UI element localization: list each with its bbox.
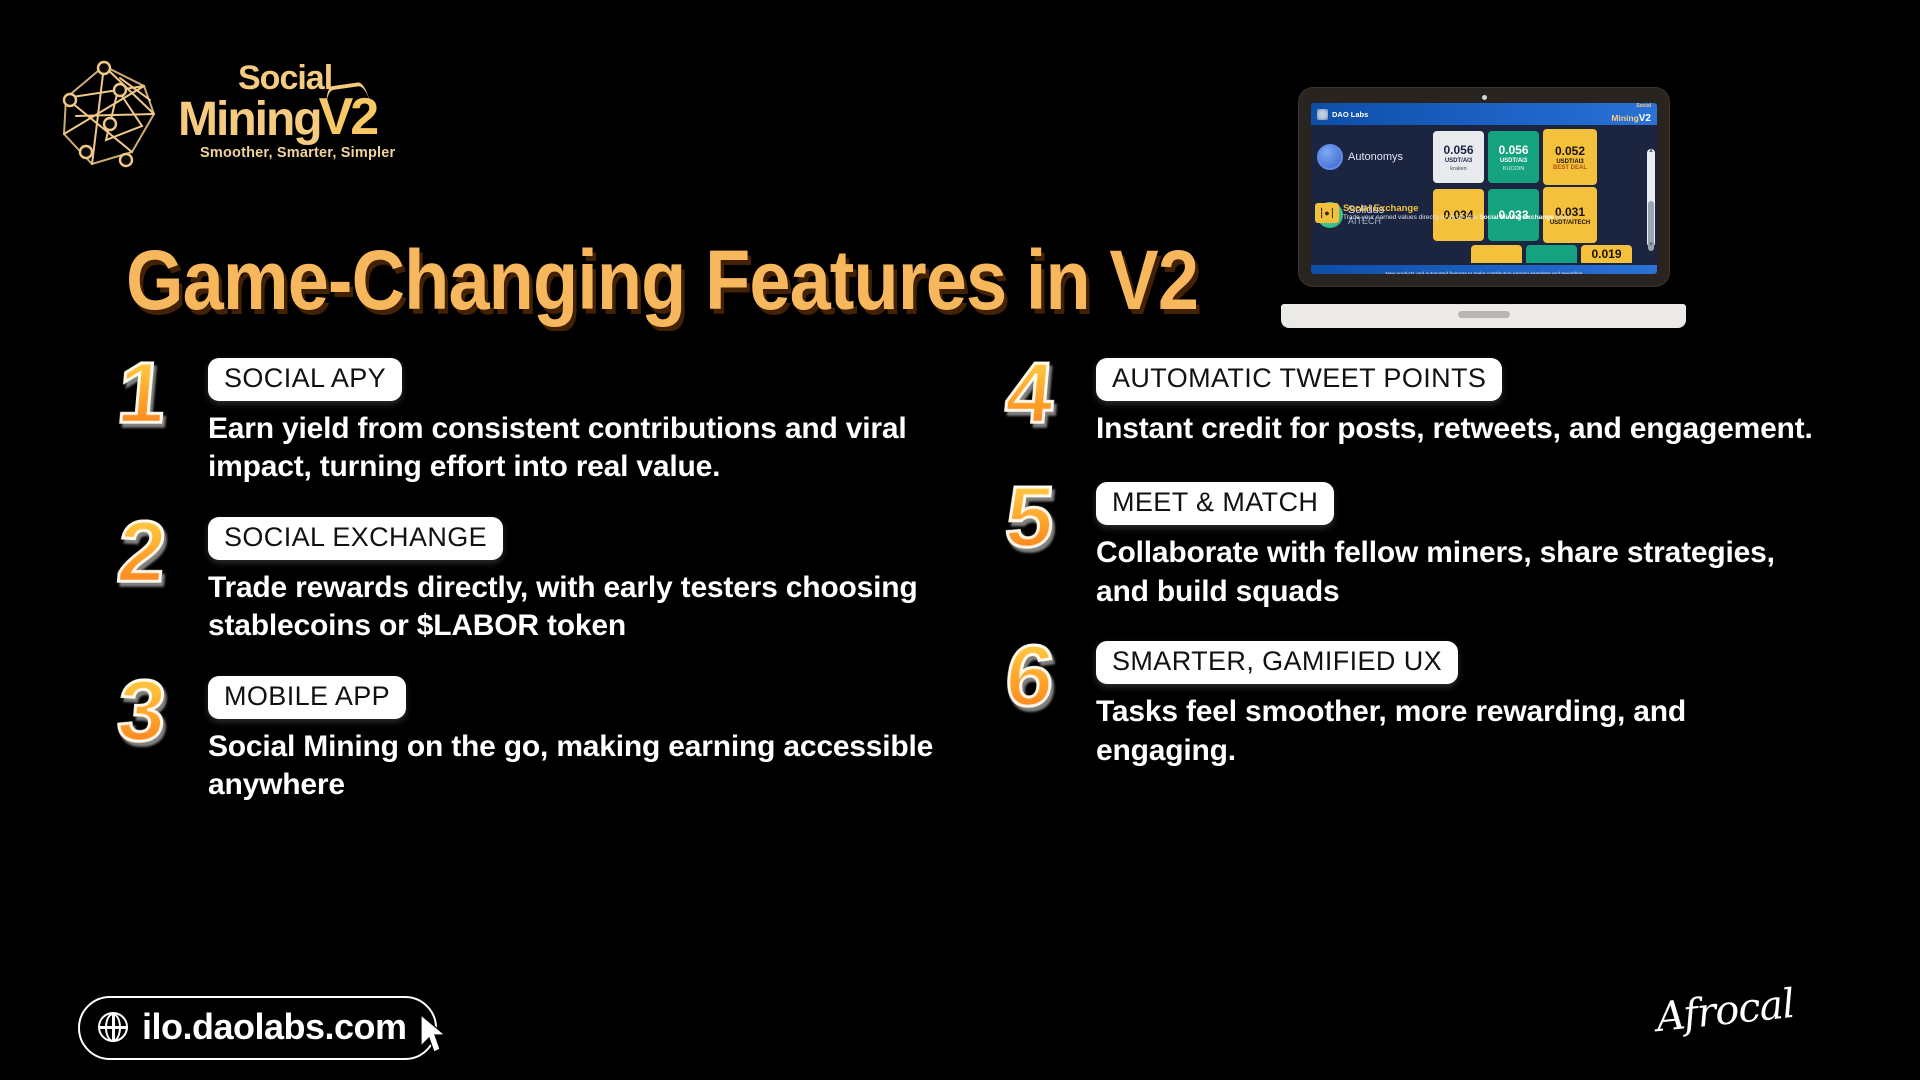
laptop-lid: DAO Labs Social MiningV2 Autonomys <box>1299 88 1669 286</box>
feature-description: Collaborate with fellow miners, share st… <box>1096 534 1826 611</box>
laptop-trackpad-notch <box>1458 311 1510 318</box>
website-url-pill[interactable]: ilo.daolabs.com <box>78 996 437 1060</box>
feature-description: Social Mining on the go, making earning … <box>208 728 938 805</box>
exchange-row: Autonomys 0.056 USDT/AI3 kraken 0.056 US… <box>1317 131 1653 183</box>
feature-number: 4 <box>1002 350 1057 436</box>
app-brand-label: DAO Labs <box>1332 110 1368 119</box>
feature-description: Tasks feel smoother, more rewarding, and… <box>1096 693 1826 770</box>
feature-item-1: 1 SOCIAL APY Earn yield from consistent … <box>118 358 1018 487</box>
website-url-label: ilo.daolabs.com <box>142 1006 407 1048</box>
app-product-logo: Social MiningV2 <box>1611 104 1651 125</box>
feature-item-2: 2 SOCIAL EXCHANGE Trade rewards directly… <box>118 517 1018 646</box>
globe-icon <box>98 1012 128 1042</box>
brand-logo: Social Mining V2 Smoother, Smarter, Simp… <box>58 48 438 188</box>
logo-line-mining: Mining <box>178 98 321 141</box>
app-product-main: Mining <box>1611 113 1638 123</box>
promo-subtitle: Trade your earned values directly in an … <box>1343 214 1571 222</box>
feature-number: 2 <box>114 509 169 595</box>
laptop-base <box>1281 304 1686 328</box>
app-footer-note: New products and automated features to m… <box>1386 271 1583 275</box>
mouse-cursor-icon <box>418 1013 448 1055</box>
promo-title: Social Exchange <box>1343 204 1571 214</box>
autonomys-coin-icon <box>1317 144 1343 170</box>
dao-labs-lion-network-logo-icon <box>58 56 168 176</box>
feature-number: 5 <box>1002 474 1057 560</box>
logo-line-social: Social <box>178 62 438 94</box>
price-value: 0.056 <box>1498 143 1528 157</box>
feature-label: MOBILE APP <box>208 676 406 719</box>
feature-item-3: 3 MOBILE APP Social Mining on the go, ma… <box>118 676 1018 805</box>
feature-item-6: 6 SMARTER, GAMIFIED UX Tasks feel smooth… <box>1006 641 1906 770</box>
exchange-name: KUCOIN <box>1503 166 1524 172</box>
exchange-name: kraken <box>1450 166 1467 172</box>
coin-info: Autonomys <box>1317 144 1429 170</box>
feature-description: Earn yield from consistent contributions… <box>208 410 938 487</box>
webcam-icon <box>1482 95 1487 100</box>
feature-label: MEET & MATCH <box>1096 482 1334 525</box>
feature-number: 6 <box>1002 633 1057 719</box>
features-column-left: 1 SOCIAL APY Earn yield from consistent … <box>118 358 1018 834</box>
coin-name: Autonomys <box>1348 151 1403 163</box>
logo-tagline: Smoother, Smarter, Simpler <box>178 145 438 161</box>
scroll-down-arrow-icon[interactable]: ▼ <box>1648 242 1654 248</box>
app-scrollbar[interactable]: ▲ ▼ <box>1647 149 1655 247</box>
price-pair: USDT/AI3 <box>1500 158 1527 164</box>
infographic-canvas: Social Mining V2 Smoother, Smarter, Simp… <box>0 0 1920 1080</box>
price-cell[interactable]: 0.056 USDT/AI3 KUCOIN <box>1488 131 1539 183</box>
app-header-bar: DAO Labs Social MiningV2 <box>1311 103 1657 125</box>
scroll-up-arrow-icon[interactable]: ▲ <box>1648 148 1654 154</box>
dao-labs-icon <box>1317 109 1328 120</box>
best-deal-badge: BEST DEAL <box>1553 165 1587 171</box>
price-pair: USDT/AI3 <box>1445 158 1472 164</box>
price-cell-best-deal[interactable]: 0.052 USDT/AI3 BEST DEAL <box>1543 129 1597 185</box>
feature-label: SOCIAL APY <box>208 358 402 401</box>
logo-version: V2 <box>319 94 377 141</box>
price-cell[interactable]: 0.056 USDT/AI3 kraken <box>1433 131 1484 183</box>
price-value: 0.056 <box>1443 143 1473 157</box>
laptop-mockup: DAO Labs Social MiningV2 Autonomys <box>1281 88 1686 328</box>
page-title: Game-Changing Features in V2 <box>126 232 1198 329</box>
feature-number: 1 <box>114 350 169 436</box>
feature-label: SMARTER, GAMIFIED UX <box>1096 641 1458 684</box>
app-product-small: Social <box>1611 104 1651 109</box>
social-exchange-icon: ┆●┆ <box>1315 203 1339 223</box>
app-body: Autonomys 0.056 USDT/AI3 kraken 0.056 US… <box>1311 125 1657 265</box>
feature-item-4: 4 AUTOMATIC TWEET POINTS Instant credit … <box>1006 358 1906 448</box>
price-value: 0.052 <box>1555 144 1585 158</box>
social-exchange-promo[interactable]: ┆●┆ Social Exchange Trade your earned va… <box>1315 203 1633 223</box>
app-brand: DAO Labs <box>1317 109 1368 120</box>
feature-description: Instant credit for posts, retweets, and … <box>1096 410 1826 448</box>
price-value: 0.019 <box>1581 245 1632 263</box>
feature-number: 3 <box>114 668 169 754</box>
features-column-right: 4 AUTOMATIC TWEET POINTS Instant credit … <box>1006 358 1906 800</box>
app-footer-bar: New products and automated features to m… <box>1311 265 1657 274</box>
author-signature: Afrocal <box>1654 981 1796 1041</box>
feature-label: AUTOMATIC TWEET POINTS <box>1096 358 1502 401</box>
laptop-screen: DAO Labs Social MiningV2 Autonomys <box>1311 103 1657 274</box>
feature-item-5: 5 MEET & MATCH Collaborate with fellow m… <box>1006 482 1906 611</box>
feature-label: SOCIAL EXCHANGE <box>208 517 503 560</box>
partial-row: 0.019 <box>1471 245 1632 263</box>
feature-description: Trade rewards directly, with early teste… <box>208 569 938 646</box>
app-product-version: V2 <box>1639 113 1651 124</box>
